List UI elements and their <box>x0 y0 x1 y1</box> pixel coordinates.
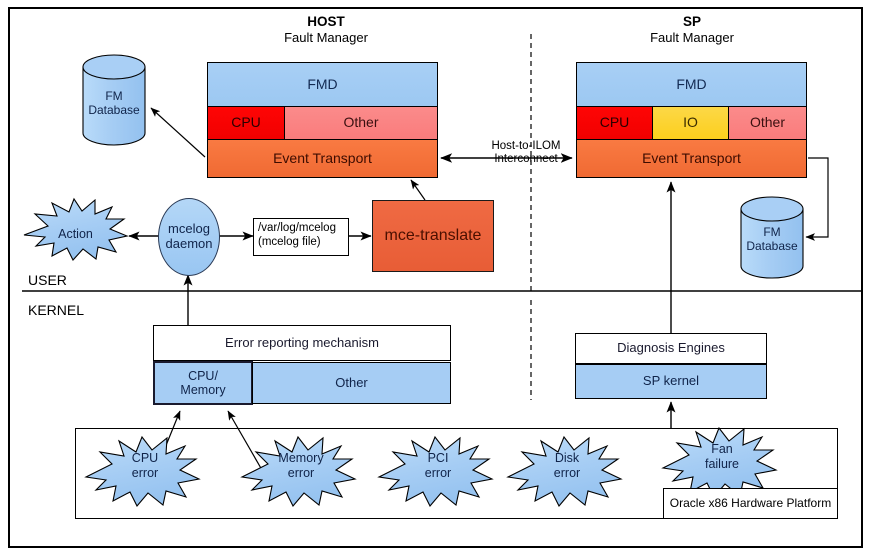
sp-other-block[interactable]: Other <box>728 106 807 140</box>
cpu-memory-line1: CPU/ <box>180 369 225 383</box>
host-title: HOST <box>242 14 410 29</box>
user-layer-label: USER <box>28 272 67 288</box>
host-header: HOST Fault Manager <box>242 14 410 45</box>
sp-event-transport-block[interactable]: Event Transport <box>576 139 807 178</box>
cpu-memory-block[interactable]: CPU/ Memory <box>153 361 253 405</box>
cpu-memory-line2: Memory <box>180 383 225 397</box>
sp-cpu-block[interactable]: CPU <box>576 106 653 140</box>
mcelog-daemon-line2: daemon <box>166 237 213 252</box>
sp-subtitle: Fault Manager <box>608 30 776 45</box>
host-to-ilom-label: Host-to-ILOM Interconnect <box>466 140 586 166</box>
diagram-canvas: HOST Fault Manager SP Fault Manager FMD … <box>0 0 872 557</box>
interconnect-line2: Interconnect <box>466 153 586 166</box>
host-subtitle: Fault Manager <box>242 30 410 45</box>
mcelog-file-box[interactable]: /var/log/mcelog (mcelog file) <box>253 218 349 256</box>
sp-title: SP <box>608 14 776 29</box>
oracle-platform-label: Oracle x86 Hardware Platform <box>663 488 838 519</box>
sp-kernel-box[interactable]: SP kernel <box>575 364 767 399</box>
host-event-transport-block[interactable]: Event Transport <box>207 139 438 178</box>
kernel-layer-label: KERNEL <box>28 302 84 318</box>
sp-fmd-block[interactable]: FMD <box>576 62 807 107</box>
mcelog-file-desc: (mcelog file) <box>258 236 344 250</box>
host-other-block[interactable]: Other <box>284 106 438 140</box>
diagnosis-engines-box[interactable]: Diagnosis Engines <box>575 333 767 364</box>
error-reporting-mechanism-box[interactable]: Error reporting mechanism <box>153 325 451 361</box>
interconnect-line1: Host-to-ILOM <box>466 140 586 153</box>
sp-header: SP Fault Manager <box>608 14 776 45</box>
mce-translate-box[interactable]: mce-translate <box>372 200 494 272</box>
host-cpu-block[interactable]: CPU <box>207 106 285 140</box>
mcelog-daemon[interactable]: mcelog daemon <box>158 198 220 276</box>
mcelog-daemon-line1: mcelog <box>166 222 213 237</box>
kernel-other-block[interactable]: Other <box>252 362 451 404</box>
sp-io-block[interactable]: IO <box>652 106 729 140</box>
host-fmd-block[interactable]: FMD <box>207 62 438 107</box>
mcelog-file-path: /var/log/mcelog <box>258 222 344 236</box>
